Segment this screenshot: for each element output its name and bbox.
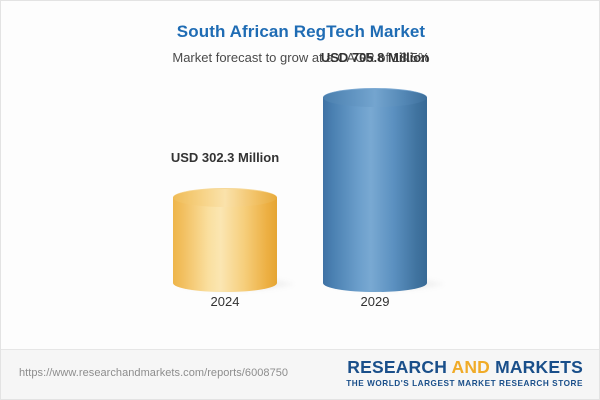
report-url[interactable]: https://www.researchandmarkets.com/repor…	[19, 367, 288, 379]
cylinder-segment-blue	[323, 97, 427, 197]
bar-group-2029: USD 705.8 Million 2029	[323, 64, 427, 309]
infographic-card: South African RegTech Market Market fore…	[0, 0, 600, 400]
cylinder-top-ellipse	[323, 88, 427, 107]
cylinder-body	[323, 97, 427, 197]
cylinder-segment-gold	[323, 197, 427, 283]
footer-bar: https://www.researchandmarkets.com/repor…	[1, 349, 599, 399]
cylinder-segment-gold	[173, 197, 277, 283]
bar-value-label-2029: USD 705.8 Million	[275, 50, 475, 65]
cylinder-body	[173, 197, 277, 283]
logo-tagline: THE WORLD'S LARGEST MARKET RESEARCH STOR…	[346, 378, 583, 389]
logo-word-markets: MARKETS	[495, 357, 583, 377]
bar-category-label-2029: 2029	[275, 294, 475, 309]
cylinder-top-ellipse	[173, 188, 277, 207]
bar-group-2024: USD 302.3 Million 2024	[173, 164, 277, 309]
cylinder-2029	[323, 97, 427, 283]
chart-plot-area: USD 302.3 Million 2024 USD 705.8 Million	[1, 1, 600, 350]
cylinder-2024	[173, 197, 277, 283]
brand-logo[interactable]: RESEARCH AND MARKETS THE WORLD'S LARGEST…	[346, 358, 583, 389]
logo-wordmark: RESEARCH AND MARKETS	[346, 358, 583, 377]
logo-word-and-text: AND	[451, 357, 490, 377]
bar-value-label-2024: USD 302.3 Million	[125, 150, 325, 165]
cylinder-body	[323, 197, 427, 283]
logo-word-research: RESEARCH	[347, 357, 447, 377]
